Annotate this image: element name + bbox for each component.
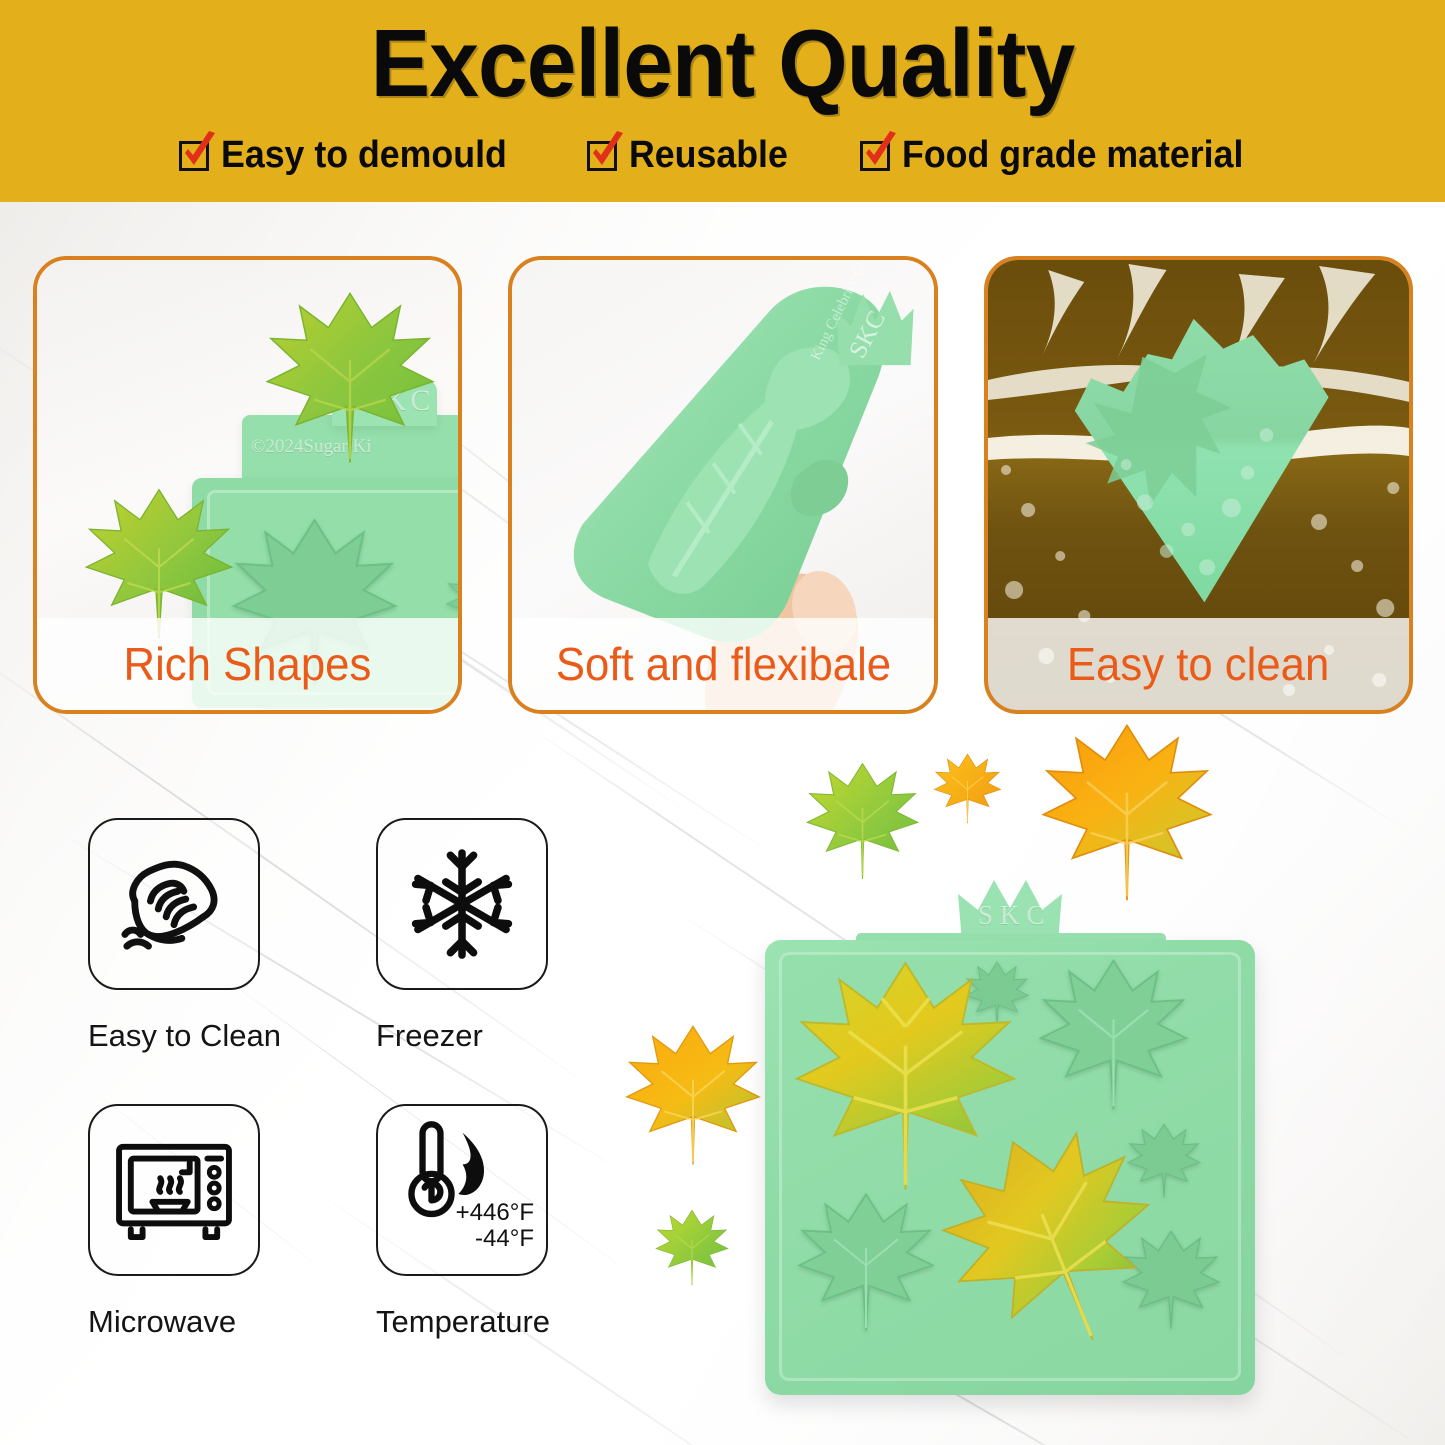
card-label: Easy to clean <box>1067 637 1329 691</box>
hand-wiping-cloth-icon <box>88 818 260 990</box>
checkbox-checked-icon <box>179 141 209 171</box>
snowflake-icon <box>376 818 548 990</box>
temperature-values: +446°F -44°F <box>456 1200 534 1252</box>
header-bullet-list: Easy to demould Reusable Food grade mate… <box>0 134 1445 177</box>
feature-temperature: +446°F -44°F Temperature <box>376 1104 568 1390</box>
feature-card-soft-flexible[interactable]: SKC King Celebrity Chef Soft and flexiba… <box>508 256 937 714</box>
header-bullet-label: Reusable <box>629 134 788 177</box>
feature-card-rich-shapes[interactable]: SKC ©2024Sugar Ki <box>33 256 462 714</box>
feature-caption: Microwave <box>88 1304 236 1340</box>
card-label-band: Rich Shapes <box>37 618 458 710</box>
header-bullet-2: Food grade material <box>860 134 1265 177</box>
scattered-leaf-green-small <box>652 1208 732 1286</box>
header-bullet-label: Easy to demould <box>221 134 507 177</box>
feature-easy-to-clean: Easy to Clean <box>88 818 376 1104</box>
card-label: Soft and flexibale <box>555 637 890 691</box>
mold-cavity-leaf-large-right <box>1031 956 1196 1114</box>
fondant-leaf-green-upper <box>255 288 445 468</box>
checkbox-checked-icon <box>587 141 617 171</box>
feature-freezer: Freezer <box>376 818 568 1104</box>
scattered-leaf-orange-left <box>618 1022 768 1166</box>
checkbox-checked-icon <box>860 141 890 171</box>
feature-card-easy-clean[interactable]: Easy to clean <box>984 256 1413 714</box>
scattered-leaf-orange-large <box>1032 720 1222 902</box>
feature-caption: Easy to Clean <box>88 1018 281 1054</box>
thermometer-flame-icon: +446°F -44°F <box>376 1104 548 1276</box>
header-bullet-0: Easy to demould <box>179 134 525 177</box>
feature-caption: Freezer <box>376 1018 483 1054</box>
card-label-band: Soft and flexibale <box>512 618 933 710</box>
header-bullet-label: Food grade material <box>902 134 1243 177</box>
header-bullet-1: Reusable <box>587 134 798 177</box>
molded-leaf-filled-lower <box>937 1128 1167 1350</box>
feature-icon-grid: Easy to Clean Freezer <box>88 818 568 1390</box>
card-label-band: Easy to clean <box>988 618 1409 710</box>
page-title: Excellent Quality <box>51 14 1395 115</box>
scattered-leaf-green-medium <box>800 760 925 880</box>
silicone-mold-tray <box>765 940 1255 1395</box>
temperature-low: -44°F <box>456 1226 534 1252</box>
temperature-high: +446°F <box>456 1200 534 1226</box>
feature-microwave: Microwave <box>88 1104 376 1390</box>
product-photo: SKC ©2024Sugar King Celebrity Chef <box>600 700 1445 1445</box>
header-banner: Excellent Quality Easy to demould Reusab… <box>0 0 1445 202</box>
microwave-oven-icon <box>88 1104 260 1276</box>
feature-caption: Temperature <box>376 1304 550 1340</box>
feature-card-row: SKC ©2024Sugar Ki <box>33 256 1413 714</box>
scattered-leaf-yellow-small <box>930 752 1005 824</box>
mold-brand-mark: SKC <box>978 900 1052 931</box>
card-label: Rich Shapes <box>124 637 372 691</box>
mold-cavity-leaf-bottom-left <box>791 1190 941 1335</box>
